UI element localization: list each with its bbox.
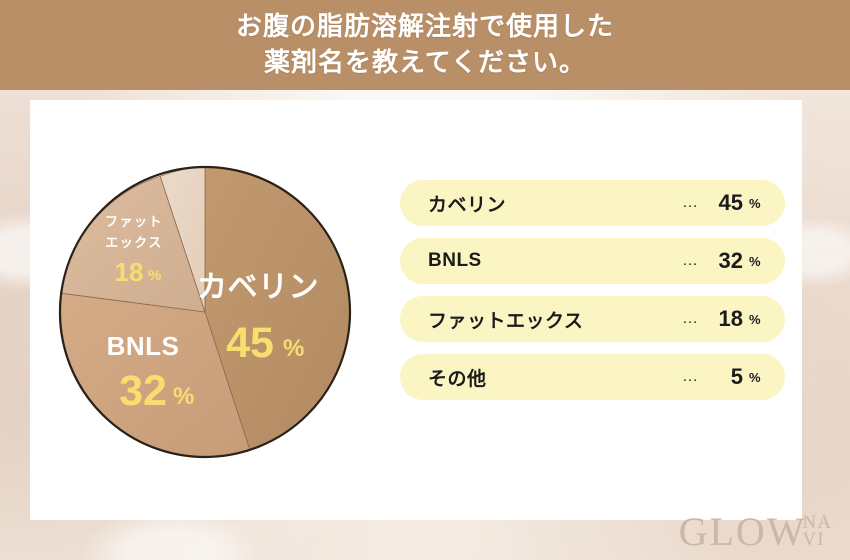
brand-logo-sub-bottom: VI — [803, 531, 832, 548]
pie-chart: カベリン 45 % BNLS 32 % ファット エックス 18 % — [55, 162, 355, 462]
pie-value-bnls: 32 — [119, 367, 167, 415]
legend-value-fatx: 18 — [709, 306, 743, 332]
legend-row-fatx[interactable]: ファットエックス … 18 % — [400, 296, 785, 342]
brand-logo-main: GLOW — [679, 512, 807, 552]
pie-label-bnls: BNLS — [107, 331, 180, 361]
pie-unit-kaberin: % — [283, 335, 304, 362]
legend-list: カベリン … 45 % BNLS … 32 % ファットエックス … 18 % … — [400, 180, 785, 400]
legend-unit-other: % — [743, 370, 759, 385]
header-banner: お腹の脂肪溶解注射で使用した 薬剤名を教えてください。 — [0, 0, 850, 90]
pie-unit-fatx: % — [148, 267, 161, 284]
legend-value-other: 5 — [709, 364, 743, 390]
pie-unit-bnls: % — [173, 383, 194, 410]
legend-row-other[interactable]: その他 … 5 % — [400, 354, 785, 400]
legend-label-bnls: BNLS — [428, 250, 482, 272]
legend-label-kaberin: カベリン — [428, 190, 506, 217]
brand-logo-sub: NA VI — [803, 514, 832, 549]
brand-logo: GLOW NA VI — [679, 512, 832, 552]
legend-unit-bnls: % — [743, 254, 759, 269]
legend-dots-bnls: … — [682, 252, 709, 270]
legend-value-bnls: 32 — [709, 248, 743, 274]
legend-label-fatx: ファットエックス — [428, 306, 583, 333]
legend-dots-other: … — [682, 368, 709, 386]
pie-label-fatx-line2: エックス — [105, 235, 163, 250]
pie-value-fatx: 18 — [115, 257, 144, 287]
legend-unit-kaberin: % — [743, 196, 759, 211]
pie-label-fatx-line1: ファット — [105, 214, 163, 229]
pie-value-kaberin: 45 — [226, 319, 274, 367]
legend-unit-fatx: % — [743, 312, 759, 327]
pie-chart-svg: カベリン 45 % BNLS 32 % ファット エックス 18 % — [55, 162, 355, 462]
legend-dots-kaberin: … — [682, 194, 709, 212]
legend-row-kaberin[interactable]: カベリン … 45 % — [400, 180, 785, 226]
legend-dots-fatx: … — [682, 310, 709, 328]
infographic-slide: お腹の脂肪溶解注射で使用した 薬剤名を教えてください。 — [0, 0, 850, 560]
legend-value-kaberin: 45 — [709, 190, 743, 216]
legend-label-other: その他 — [428, 364, 487, 391]
header-title-line-1: お腹の脂肪溶解注射で使用した — [236, 9, 614, 45]
legend-row-bnls[interactable]: BNLS … 32 % — [400, 238, 785, 284]
content-card: カベリン 45 % BNLS 32 % ファット エックス 18 % カベリン … — [30, 100, 802, 520]
pie-label-kaberin: カベリン — [197, 271, 319, 304]
header-title-line-2: 薬剤名を教えてください。 — [264, 45, 586, 81]
